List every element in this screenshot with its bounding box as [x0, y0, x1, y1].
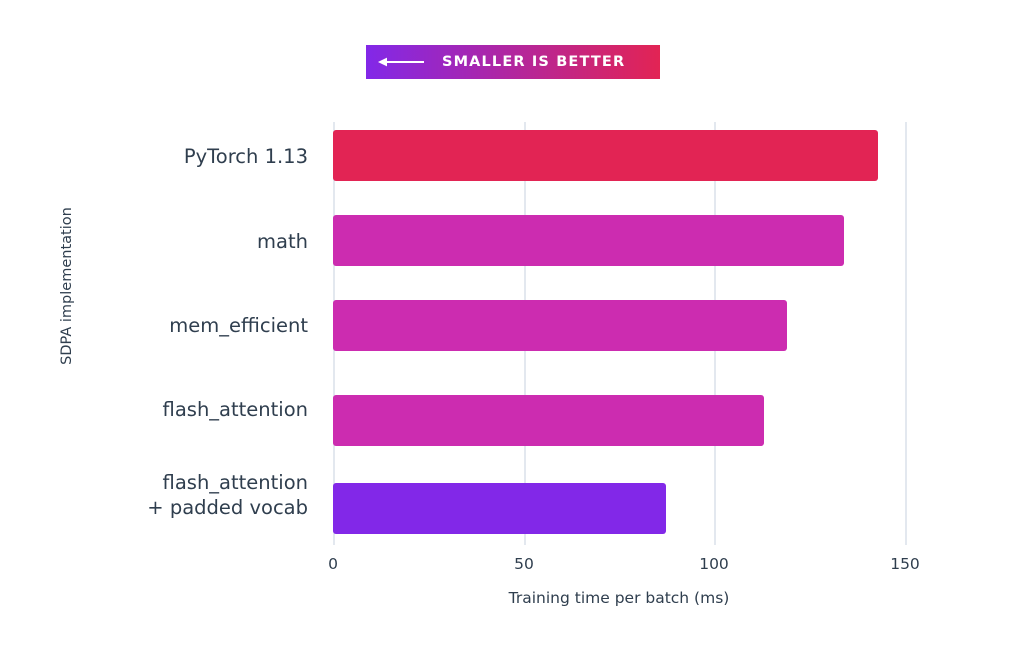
y-tick-label-mem-efficient: mem_efficient [8, 313, 308, 338]
y-tick-label-flash-attention-padded: flash_attention + padded vocab [8, 470, 308, 520]
bar-mem-efficient[interactable] [333, 300, 787, 351]
y-tick-label-pytorch-113: PyTorch 1.13 [8, 144, 308, 169]
bar-chart: SDPA implementation PyTorch 1.13 math me… [0, 0, 1024, 653]
y-tick-label-flash-attention: flash_attention [8, 397, 308, 422]
plot-area [333, 122, 905, 545]
bar-pytorch-113[interactable] [333, 130, 878, 181]
bar-math[interactable] [333, 215, 844, 266]
y-axis-tick-labels: PyTorch 1.13 math mem_efficient flash_at… [0, 0, 308, 653]
x-tick-label-100: 100 [674, 555, 754, 573]
x-tick-label-50: 50 [484, 555, 564, 573]
bar-flash-attention[interactable] [333, 395, 764, 446]
bar-flash-attention-padded[interactable] [333, 483, 666, 534]
x-axis-title: Training time per batch (ms) [333, 589, 905, 607]
x-tick-label-150: 150 [865, 555, 945, 573]
x-tick-label-0: 0 [293, 555, 373, 573]
y-tick-label-math: math [8, 229, 308, 254]
gridline-150 [905, 122, 907, 545]
